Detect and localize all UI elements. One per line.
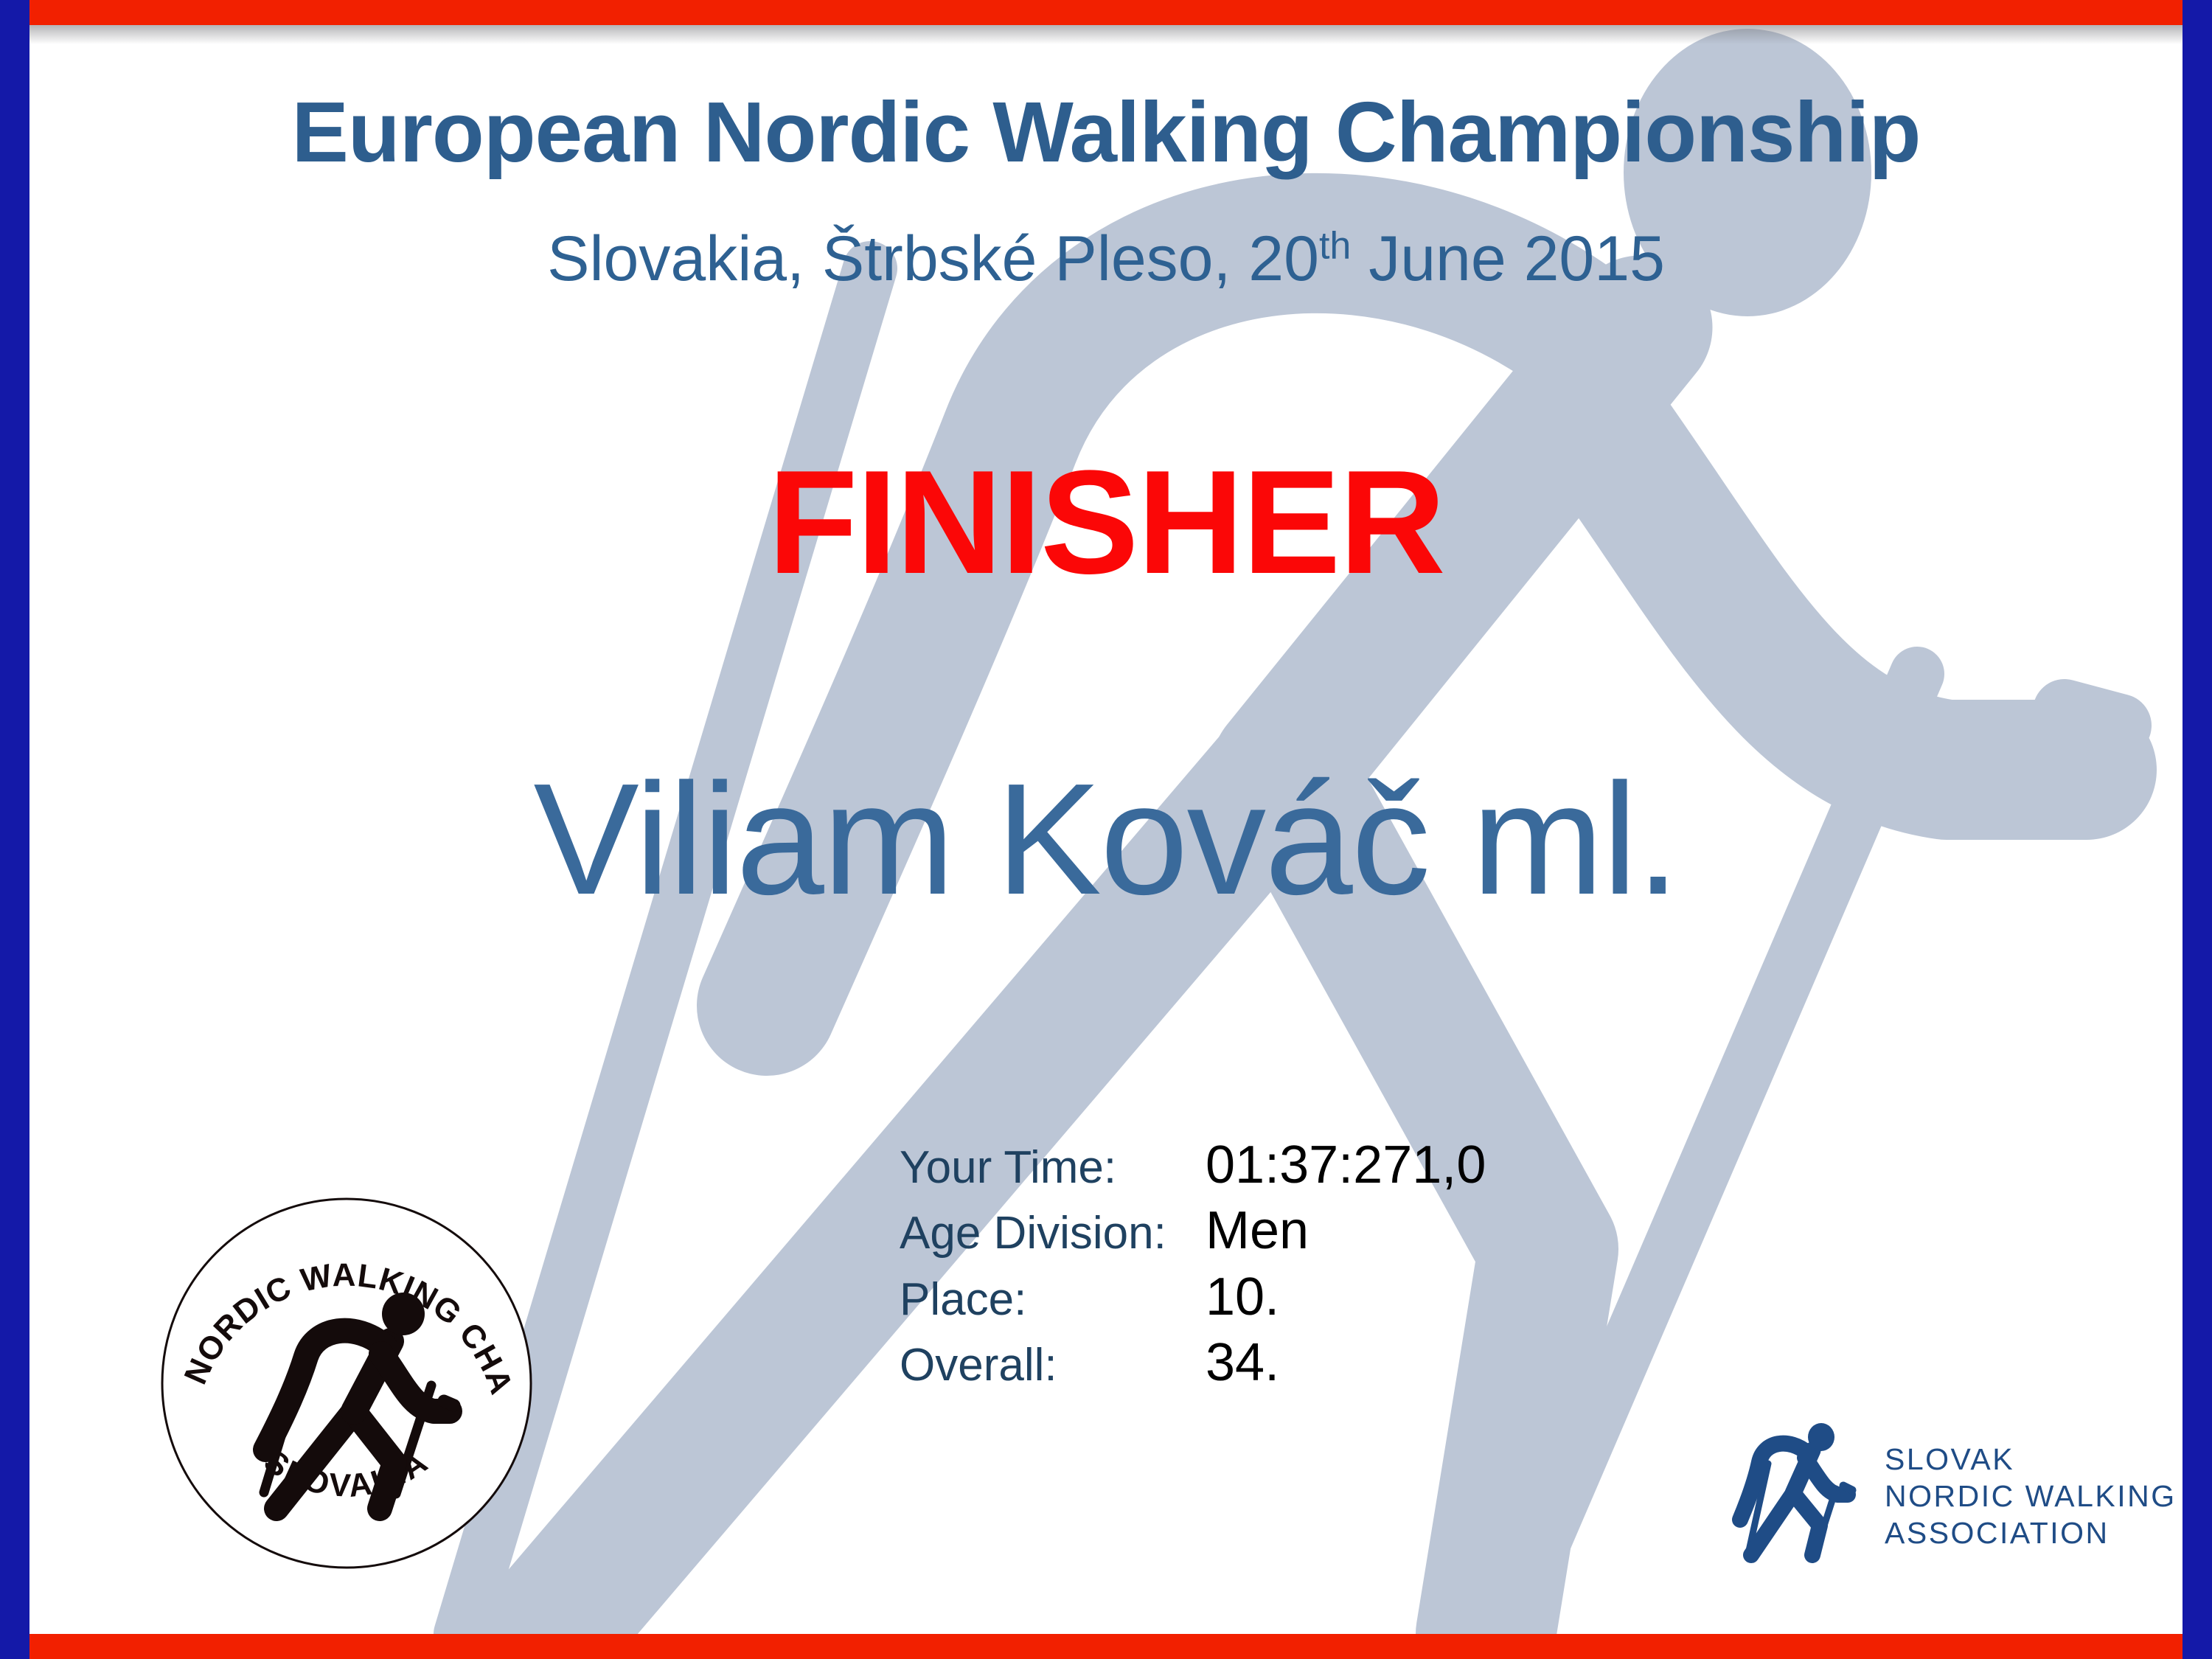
border-bottom-red [0, 1634, 2212, 1659]
date-ordinal-suffix: th [1319, 224, 1351, 267]
result-label-overall: Overall: [900, 1342, 1206, 1388]
border-right-blue [2183, 0, 2212, 1659]
result-value-your-time: 01:37:271,0 [1206, 1138, 1486, 1192]
event-date-suffix: June 2015 [1351, 223, 1665, 294]
nordic-walker-icon [1725, 1421, 1865, 1572]
association-line-1: SLOVAK [1885, 1444, 2177, 1475]
border-top-shadow [29, 25, 2183, 44]
event-location-date-prefix: Slovakia, Štrbské Pleso, 20 [547, 223, 1319, 294]
finisher-certificate: European Nordic Walking Championship Slo… [0, 0, 2212, 1659]
result-value-age-division: Men [1206, 1204, 1486, 1258]
championship-seal-logo: EUROPEAN NORDIC WALKING CHAMPIONSHIP SLO… [155, 1190, 538, 1573]
page-title: European Nordic Walking Championship [29, 83, 2183, 181]
association-logo: SLOVAK NORDIC WALKING ASSOCIATION [1725, 1419, 2109, 1573]
result-label-age-division: Age Division: [900, 1210, 1206, 1256]
border-top-red [0, 0, 2212, 25]
association-line-2: NORDIC WALKING [1885, 1481, 2177, 1512]
result-value-overall: 34. [1206, 1336, 1486, 1390]
result-value-place: 10. [1206, 1270, 1486, 1324]
result-label-place: Place: [900, 1276, 1206, 1323]
border-left-blue [0, 0, 29, 1659]
results-table: Your Time: 01:37:271,0 Age Division: Men… [900, 1138, 1486, 1391]
association-wordmark: SLOVAK NORDIC WALKING ASSOCIATION [1885, 1444, 2177, 1548]
certificate-field: European Nordic Walking Championship Slo… [29, 25, 2183, 1634]
event-location-date: Slovakia, Štrbské Pleso, 20th June 2015 [29, 223, 2183, 296]
status-badge: FINISHER [29, 438, 2183, 608]
association-line-3: ASSOCIATION [1885, 1518, 2177, 1548]
result-label-your-time: Your Time: [900, 1144, 1206, 1191]
athlete-name: Viliam Kováč ml. [29, 748, 2183, 931]
